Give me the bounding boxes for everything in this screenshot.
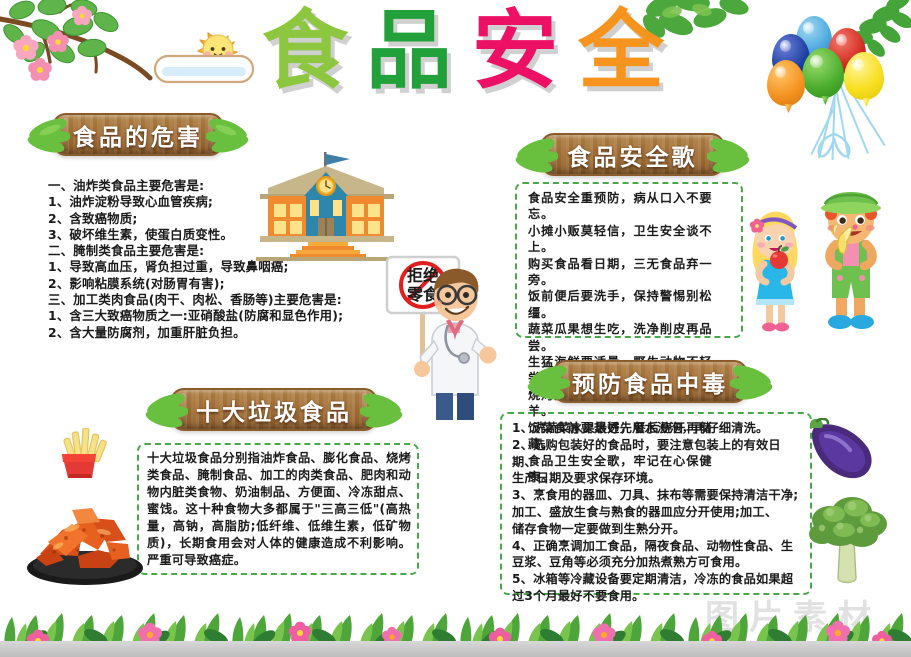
balloons-icon: [758, 10, 908, 160]
bottom-shelf: [0, 641, 911, 657]
boy-with-banana-icon: [812, 182, 890, 338]
title-char-2: 安: [472, 8, 558, 94]
girl-with-apple-icon: [744, 198, 806, 334]
section-title-poison: 预防食品中毒: [572, 365, 728, 399]
balloon-green: [802, 48, 844, 98]
balloon-orange: [767, 60, 805, 106]
balloon-yellow: [844, 52, 884, 100]
leaf-icon: [142, 392, 188, 432]
leaf-icon: [512, 137, 558, 177]
svg-text:拒绝: 拒绝: [407, 266, 439, 285]
page-title: 食 品 安 全: [262, 2, 674, 108]
section-body-junk: 十大垃圾食品分别指油炸食品、膨化食品、烧烤类食品、腌制食品、加工的肉类食品、肥肉…: [147, 450, 411, 569]
section-body-poison: 1、洗蔬菜水果最好先用水浸泡，再仔细清洗。 2、选购包装好的食品时，要注意包装上…: [512, 420, 804, 605]
section-banner-junk: 十大垃圾食品: [170, 388, 378, 431]
leaf-icon: [707, 137, 753, 177]
section-banner-hazard: 食品的危害: [52, 113, 224, 156]
french-fries-icon: [52, 428, 108, 480]
section-banner-song: 食品安全歌: [540, 133, 725, 176]
leaf-icon: [524, 364, 570, 404]
eggplant-icon: [808, 418, 880, 484]
title-char-1: 品: [366, 8, 452, 94]
section-banner-poison: 预防食品中毒: [552, 360, 748, 403]
section-title-junk: 十大垃圾食品: [196, 393, 352, 427]
broccoli-icon: [800, 486, 896, 590]
poster-canvas: 食 品 安 全: [0, 0, 911, 657]
leaf-icon: [730, 364, 776, 404]
fried-snack-plate-icon: [18, 480, 152, 590]
section-title-hazard: 食品的危害: [73, 118, 203, 152]
title-char-0: 食: [262, 8, 348, 94]
leaf-icon: [206, 117, 252, 157]
chick-cloud-icon: [152, 14, 256, 86]
title-char-3: 全: [578, 8, 664, 94]
leaf-icon: [24, 117, 70, 157]
leaf-icon: [360, 392, 406, 432]
section-title-song: 食品安全歌: [568, 138, 698, 172]
